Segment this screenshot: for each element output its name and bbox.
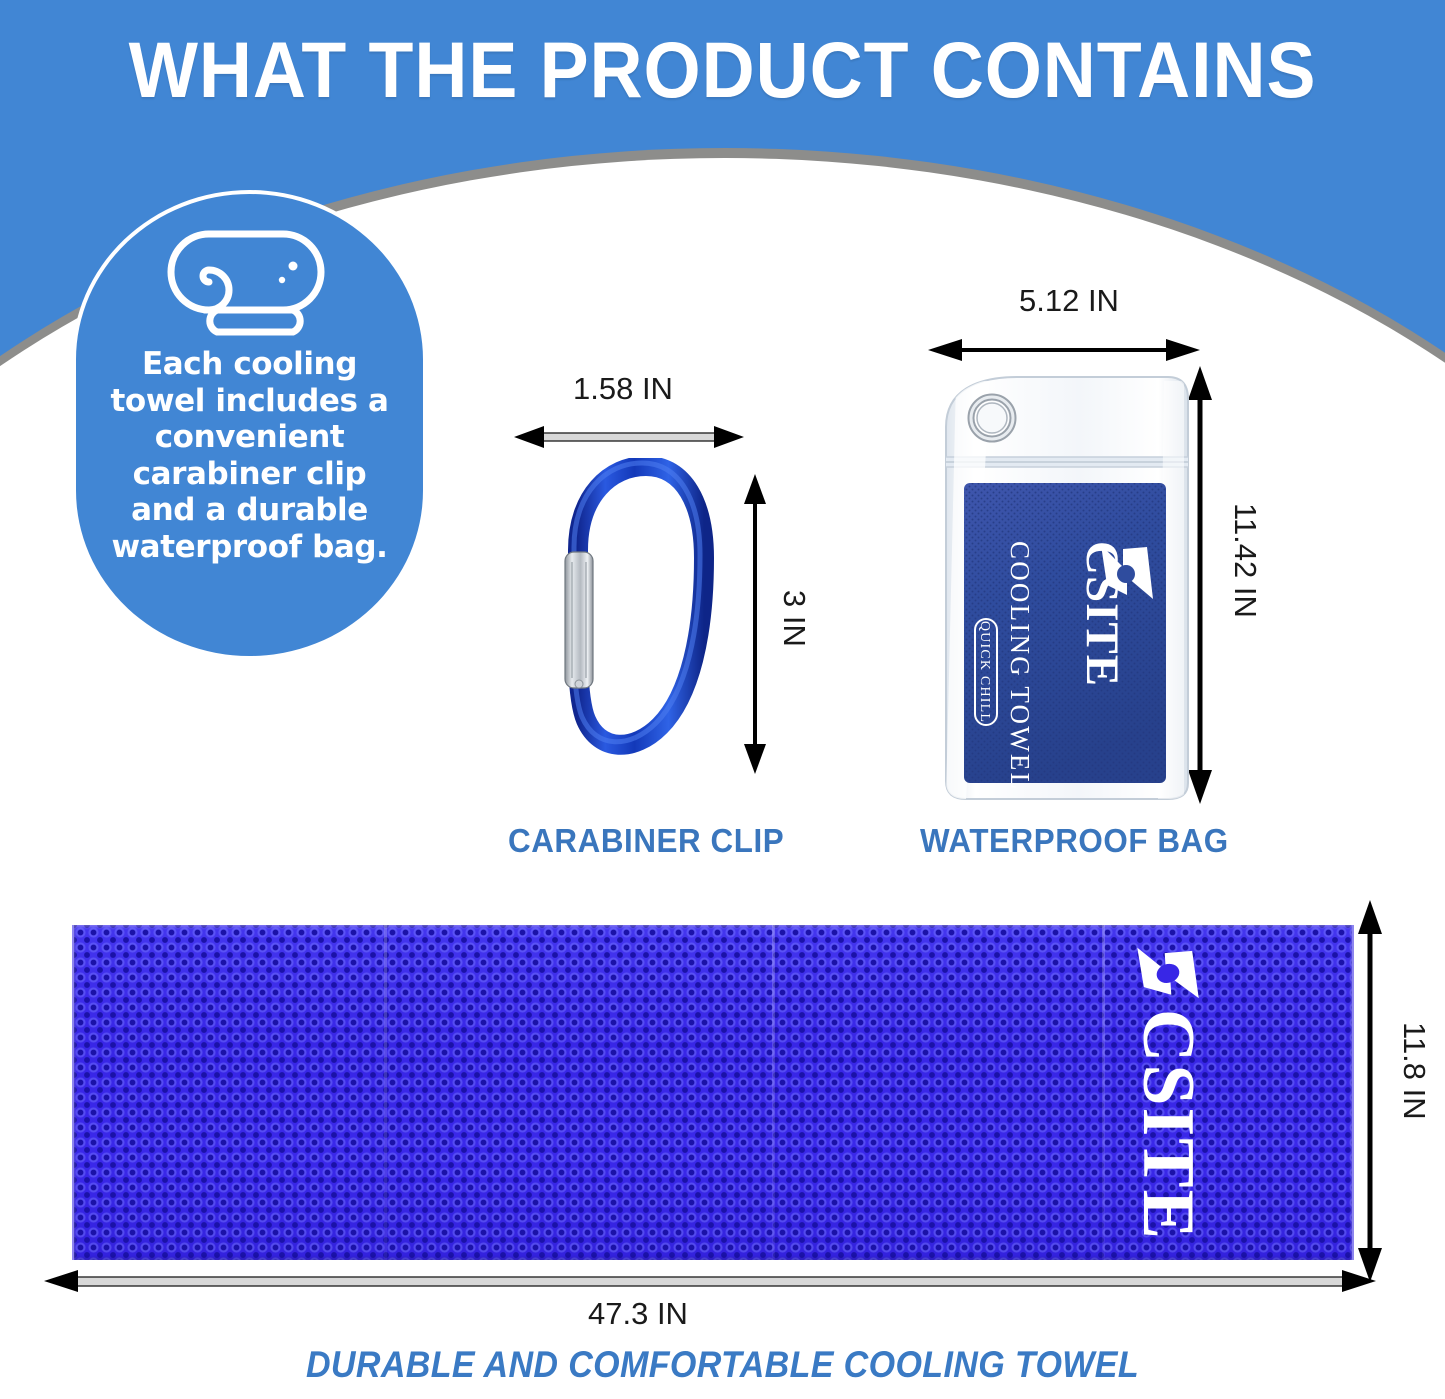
- carabiner-width-label: 1.58 IN: [573, 371, 673, 407]
- bag-width-label: 5.12 IN: [1019, 283, 1119, 319]
- csite-mark-icon: [1108, 941, 1228, 1007]
- callout-pill: Each cooling towel includes a convenient…: [72, 190, 427, 660]
- cooling-towel-image: CSITE: [72, 925, 1354, 1260]
- waterproof-bag-image: CSITE COOLING TOWEL QUICK CHILL: [932, 371, 1194, 803]
- towel-brand-logo: CSITE: [1018, 941, 1318, 1241]
- svg-text:QUICK CHILL: QUICK CHILL: [977, 621, 992, 723]
- carabiner-caption: CARABINER CLIP: [508, 822, 784, 860]
- towel-fold-line: [772, 925, 775, 1260]
- carabiner-clip-image: [548, 458, 728, 758]
- bag-caption: WATERPROOF BAG: [920, 822, 1229, 860]
- towel-brand-text: CSITE: [1131, 1009, 1205, 1241]
- bag-width-arrow: [928, 337, 1200, 363]
- bag-height-label: 11.42 IN: [1227, 503, 1263, 618]
- towel-width-arrow: [44, 1268, 1376, 1294]
- carabiner-width-arrow: [514, 424, 744, 450]
- callout-text: Each cooling towel includes a convenient…: [100, 346, 400, 565]
- svg-text:COOLING TOWEL: COOLING TOWEL: [1005, 541, 1035, 791]
- page-title: WHAT THE PRODUCT CONTAINS: [51, 24, 1395, 116]
- towel-height-arrow: [1357, 900, 1383, 1282]
- towel-roll-icon: [165, 222, 335, 342]
- towel-height-label: 11.8 IN: [1396, 1022, 1432, 1120]
- towel-fold-line: [384, 925, 387, 1260]
- carabiner-height-label: 3 IN: [776, 590, 812, 647]
- carabiner-height-arrow: [742, 474, 768, 774]
- bottom-caption: DURABLE AND COMFORTABLE COOLING TOWEL: [58, 1344, 1387, 1386]
- svg-text:CSITE: CSITE: [1076, 541, 1128, 687]
- product-infographic: WHAT THE PRODUCT CONTAINS Each cooling t…: [0, 0, 1445, 1399]
- towel-width-label: 47.3 IN: [588, 1296, 688, 1332]
